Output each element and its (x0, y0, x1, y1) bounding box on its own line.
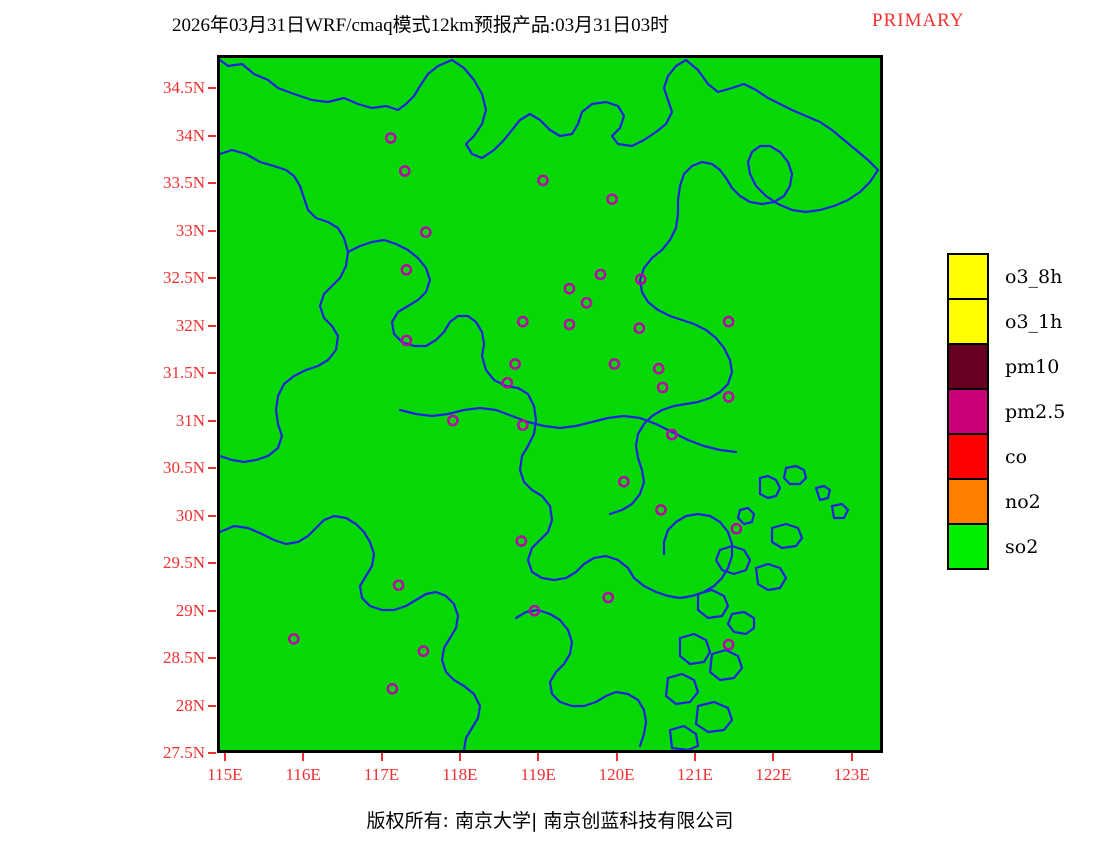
legend-label: o3_8h (1005, 266, 1062, 288)
lat-label: 29.5N (120, 553, 205, 573)
station-marker[interactable] (565, 320, 574, 329)
legend-swatch-pm2-5[interactable]: pm2.5 (947, 388, 989, 435)
copyright-footer: 版权所有: 南京大学| 南京创蓝科技有限公司 (0, 806, 1100, 833)
lon-label: 116E (286, 765, 321, 785)
pollutant-legend[interactable]: o3_8ho3_1hpm10pm2.5cono2so2 (947, 253, 989, 570)
station-marker[interactable] (565, 284, 574, 293)
station-marker[interactable] (421, 228, 430, 237)
lon-label: 115E (207, 765, 242, 785)
legend-label: co (1005, 446, 1027, 468)
lat-tick (208, 705, 216, 707)
station-marker[interactable] (604, 593, 613, 602)
lon-label: 118E (442, 765, 477, 785)
forecast-map[interactable] (217, 55, 883, 753)
legend-label: so2 (1005, 536, 1038, 558)
lat-tick (208, 87, 216, 89)
station-marker[interactable] (654, 364, 663, 373)
legend-swatch-o3-8h[interactable]: o3_8h (947, 253, 989, 300)
primary-pollutant-label: PRIMARY (872, 10, 965, 32)
lat-label: 31.5N (120, 363, 205, 383)
lat-label: 30N (120, 506, 205, 526)
lat-label: 28N (120, 696, 205, 716)
lon-label: 119E (521, 765, 556, 785)
station-marker[interactable] (582, 298, 591, 307)
lat-tick (208, 562, 216, 564)
lon-tick (616, 753, 618, 761)
station-marker[interactable] (538, 176, 547, 185)
station-markers (289, 133, 741, 693)
administrative-boundaries (220, 60, 878, 750)
station-marker[interactable] (608, 195, 617, 204)
lat-tick (208, 467, 216, 469)
lat-label: 34N (120, 126, 205, 146)
lat-tick (208, 372, 216, 374)
lon-label: 117E (364, 765, 399, 785)
legend-label: o3_1h (1005, 311, 1062, 333)
lat-label: 32.5N (120, 268, 205, 288)
lon-tick (224, 753, 226, 761)
station-marker[interactable] (419, 647, 428, 656)
legend-label: no2 (1005, 491, 1041, 513)
station-marker[interactable] (732, 524, 741, 533)
station-marker[interactable] (289, 634, 298, 643)
copyright-text: 版权所有: 南京大学| 南京创蓝科技有限公司 (367, 806, 734, 833)
lat-tick (208, 182, 216, 184)
station-marker[interactable] (619, 477, 628, 486)
legend-swatch-no2[interactable]: no2 (947, 478, 989, 525)
station-marker[interactable] (518, 317, 527, 326)
lon-label: 121E (677, 765, 713, 785)
station-marker[interactable] (517, 536, 526, 545)
map-canvas (220, 58, 880, 750)
lon-tick (381, 753, 383, 761)
lat-tick (208, 752, 216, 754)
lon-tick (851, 753, 853, 761)
legend-swatch-pm10[interactable]: pm10 (947, 343, 989, 390)
station-marker[interactable] (610, 359, 619, 368)
station-marker[interactable] (518, 421, 527, 430)
lat-label: 29N (120, 601, 205, 621)
station-marker[interactable] (394, 581, 403, 590)
lat-tick (208, 230, 216, 232)
lat-tick (208, 515, 216, 517)
station-marker[interactable] (388, 684, 397, 693)
legend-swatch-co[interactable]: co (947, 433, 989, 480)
station-marker[interactable] (656, 505, 665, 514)
lon-label: 122E (755, 765, 791, 785)
lat-label: 34.5N (120, 78, 205, 98)
lon-tick (537, 753, 539, 761)
lat-label: 33N (120, 221, 205, 241)
lon-tick (302, 753, 304, 761)
station-marker[interactable] (448, 416, 457, 425)
lat-label: 28.5N (120, 648, 205, 668)
lat-tick (208, 325, 216, 327)
legend-swatch-so2[interactable]: so2 (947, 523, 989, 570)
lat-label: 31N (120, 411, 205, 431)
lat-tick (208, 420, 216, 422)
station-marker[interactable] (400, 166, 409, 175)
lat-label: 27.5N (120, 743, 205, 763)
lon-label: 123E (834, 765, 870, 785)
station-marker[interactable] (402, 265, 411, 274)
station-marker[interactable] (635, 324, 644, 333)
lat-label: 32N (120, 316, 205, 336)
station-marker[interactable] (511, 359, 520, 368)
lat-tick (208, 657, 216, 659)
legend-swatch-o3-1h[interactable]: o3_1h (947, 298, 989, 345)
lat-tick (208, 610, 216, 612)
station-marker[interactable] (386, 133, 395, 142)
lon-label: 120E (599, 765, 635, 785)
lat-tick (208, 277, 216, 279)
legend-label: pm2.5 (1005, 401, 1065, 423)
station-marker[interactable] (724, 640, 733, 649)
lon-tick (772, 753, 774, 761)
lat-label: 30.5N (120, 458, 205, 478)
legend-label: pm10 (1005, 356, 1059, 378)
station-marker[interactable] (724, 392, 733, 401)
page-title: 2026年03月31日WRF/cmaq模式12km预报产品:03月31日03时 (172, 10, 669, 37)
station-marker[interactable] (658, 383, 667, 392)
lat-tick (208, 135, 216, 137)
lon-tick (694, 753, 696, 761)
lat-label: 33.5N (120, 173, 205, 193)
station-marker[interactable] (596, 270, 605, 279)
title-bar: 2026年03月31日WRF/cmaq模式12km预报产品:03月31日03时 … (0, 10, 1100, 38)
lon-tick (459, 753, 461, 761)
station-marker[interactable] (724, 317, 733, 326)
